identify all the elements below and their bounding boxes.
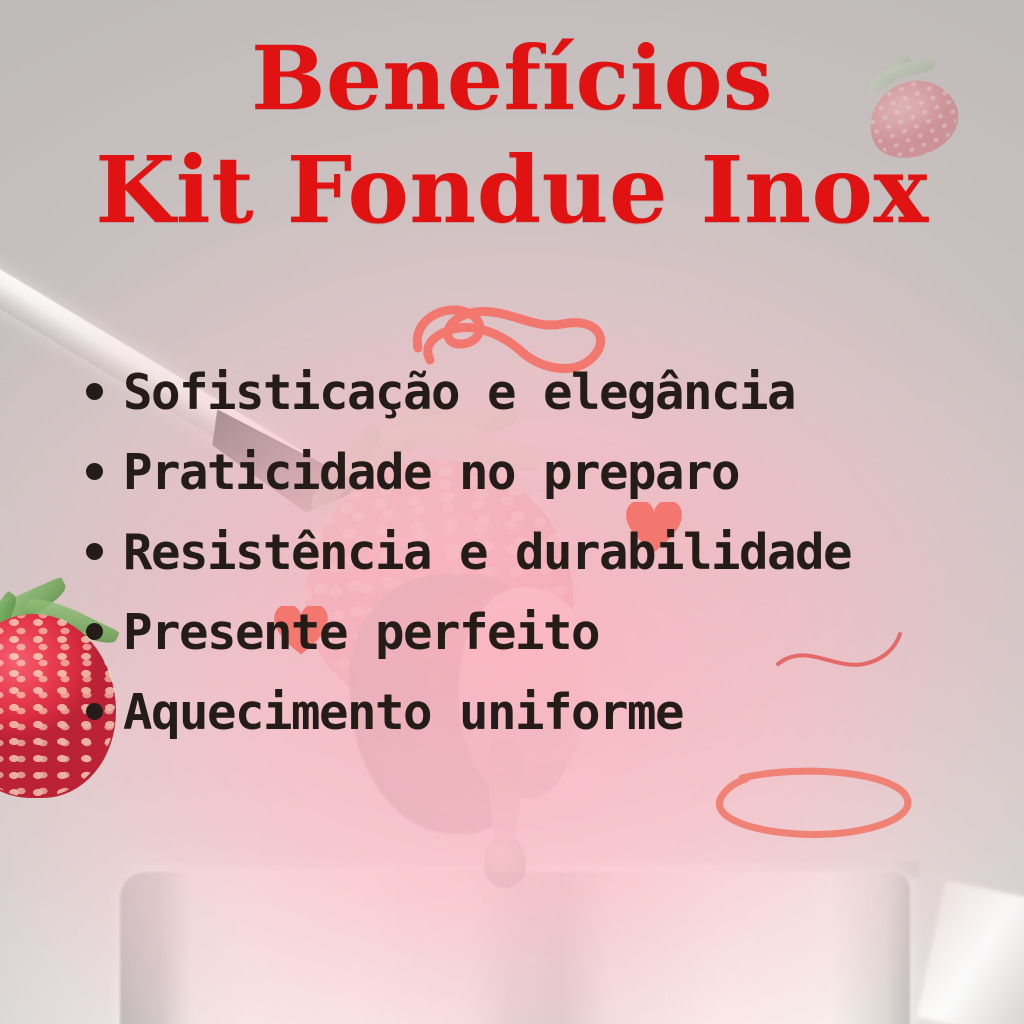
bullet-dot-icon: [86, 543, 103, 560]
benefit-label: Resistência e durabilidade: [123, 528, 851, 578]
poster-title-line-1: Benefícios: [0, 34, 1024, 122]
bullet-dot-icon: [86, 623, 103, 640]
list-item: Resistência e durabilidade: [86, 528, 1016, 578]
list-item: Praticidade no preparo: [86, 448, 1016, 498]
list-item: Sofisticação e elegância: [86, 368, 1016, 418]
poster-canvas: Benefícios Kit Fondue Inox Sofisticação …: [0, 0, 1024, 1024]
bullet-dot-icon: [86, 383, 103, 400]
poster-title-line-2: Kit Fondue Inox: [0, 144, 1024, 236]
benefit-label: Aquecimento uniforme: [123, 688, 683, 738]
list-item: Aquecimento uniforme: [86, 688, 1016, 738]
benefit-label: Sofisticação e elegância: [123, 368, 795, 418]
list-item: Presente perfeito: [86, 608, 1016, 658]
benefit-label: Praticidade no preparo: [123, 448, 739, 498]
bullet-dot-icon: [86, 703, 103, 720]
bullet-dot-icon: [86, 463, 103, 480]
poster-heading-block: Benefícios Kit Fondue Inox: [0, 34, 1024, 236]
benefits-list: Sofisticação e elegância Praticidade no …: [86, 368, 1016, 768]
benefit-label: Presente perfeito: [123, 608, 599, 658]
